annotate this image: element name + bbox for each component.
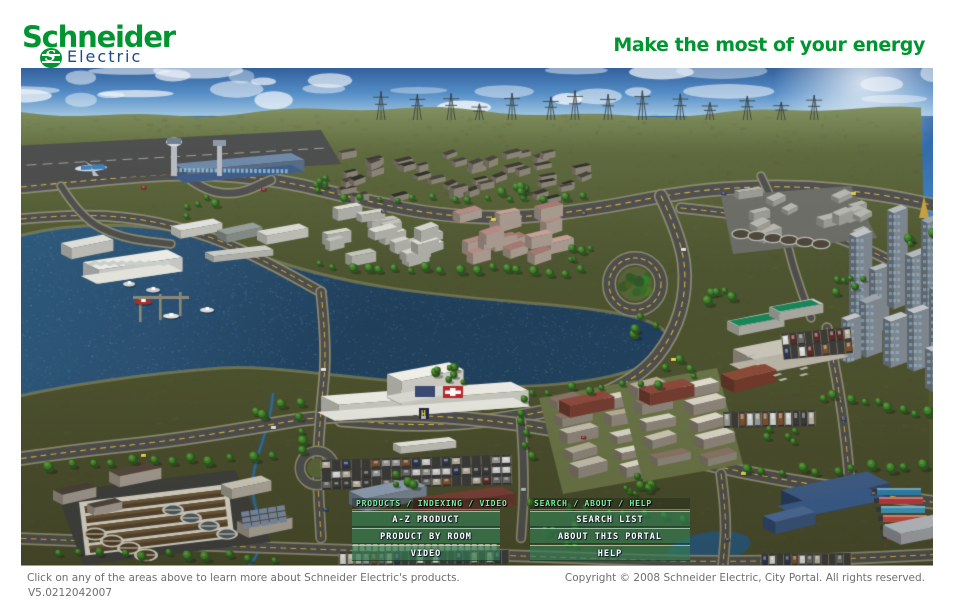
logo-mark-icon [40,48,62,68]
city-map-canvas[interactable] [21,68,933,565]
logo-sub-text: Electric [67,49,142,65]
menu-item-a-z-product[interactable]: A-Z PRODUCT [352,511,500,527]
menu-item-search-list[interactable]: SEARCH LIST [530,511,690,527]
menu-item-product-by-room[interactable]: PRODUCT BY ROOM [352,528,500,544]
menu-header-search: SEARCH / ABOUT / HELP [530,498,690,510]
footer-version: V5.0212042007 [28,587,112,599]
menu-panel-search: SEARCH / ABOUT / HELP SEARCH LIST ABOUT … [530,498,690,561]
page-footer: Click on any of the areas above to learn… [0,565,954,606]
footer-copyright: Copyright © 2008 Schneider Electric, Cit… [565,572,925,584]
menu-header-products: PRODUCTS / INDEXING / VIDEO [352,498,500,510]
footer-divider [21,565,933,566]
menu-item-video[interactable]: VIDEO [352,545,500,561]
page-header: Schneider Electric Make the most of your… [0,0,954,68]
menu-item-help[interactable]: HELP [530,545,690,561]
schneider-electric-logo[interactable]: Schneider Electric [22,22,212,66]
city-portal-page: Schneider Electric Make the most of your… [0,0,954,606]
menu-item-about-this-portal[interactable]: ABOUT THIS PORTAL [530,528,690,544]
menu-panel-products: PRODUCTS / INDEXING / VIDEO A-Z PRODUCT … [352,498,500,561]
header-tagline: Make the most of your energy [613,34,925,56]
footer-instruction: Click on any of the areas above to learn… [27,572,460,584]
city-map-image[interactable]: PRODUCTS / INDEXING / VIDEO A-Z PRODUCT … [21,68,933,565]
